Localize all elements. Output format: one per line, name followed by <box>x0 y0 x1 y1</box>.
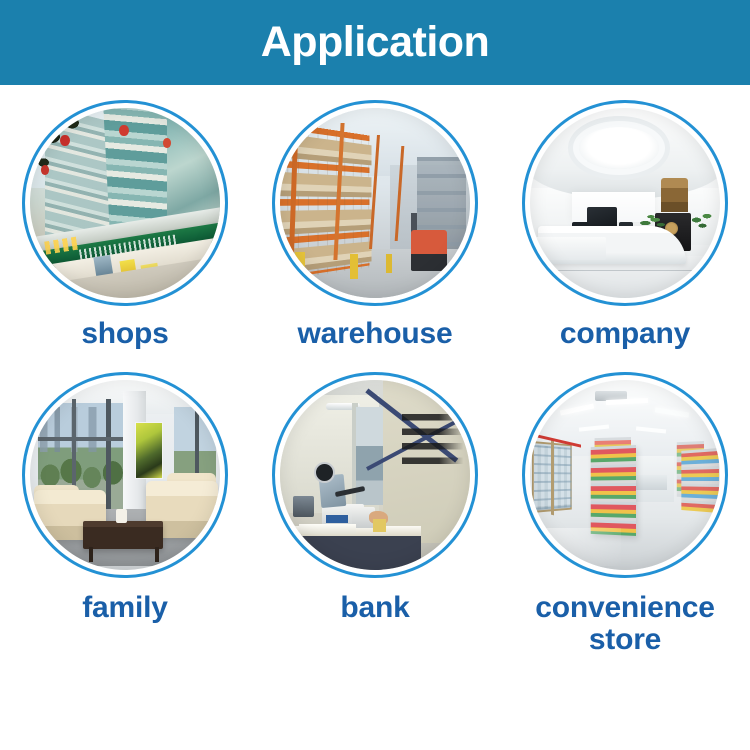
scene-family-living-room <box>30 380 220 570</box>
card-label-family: family <box>82 592 168 624</box>
circle-frame-family <box>22 372 228 578</box>
circle-frame-warehouse <box>272 100 478 306</box>
card-label-company: company <box>560 318 690 350</box>
application-grid: shops <box>0 100 750 750</box>
image-convenience-store <box>530 380 720 570</box>
image-bank <box>280 380 470 570</box>
application-card-bank[interactable]: bank <box>255 372 495 624</box>
application-card-family[interactable]: family <box>5 372 245 624</box>
scene-warehouse-racking <box>280 108 470 298</box>
scene-shops-street <box>30 108 220 298</box>
image-company <box>530 108 720 298</box>
circle-frame-convenience-store <box>522 372 728 578</box>
application-card-company[interactable]: company <box>505 100 745 350</box>
application-card-warehouse[interactable]: warehouse <box>255 100 495 350</box>
image-family <box>30 380 220 570</box>
circle-frame-shops <box>22 100 228 306</box>
card-label-warehouse: warehouse <box>298 318 453 350</box>
card-label-shops: shops <box>81 318 168 350</box>
application-page: Application <box>0 0 750 750</box>
scene-convenience-store-aisle <box>530 380 720 570</box>
application-card-convenience-store[interactable]: convenience store <box>505 372 745 656</box>
circle-frame-company <box>522 100 728 306</box>
card-label-convenience-store: convenience store <box>509 592 741 656</box>
application-card-shops[interactable]: shops <box>5 100 245 350</box>
circle-frame-bank <box>272 372 478 578</box>
scene-company-reception <box>530 108 720 298</box>
scene-bank-teller <box>280 380 470 570</box>
page-header-banner: Application <box>0 0 750 85</box>
card-label-bank: bank <box>340 592 409 624</box>
page-title: Application <box>261 21 490 64</box>
image-warehouse <box>280 108 470 298</box>
image-shops <box>30 108 220 298</box>
